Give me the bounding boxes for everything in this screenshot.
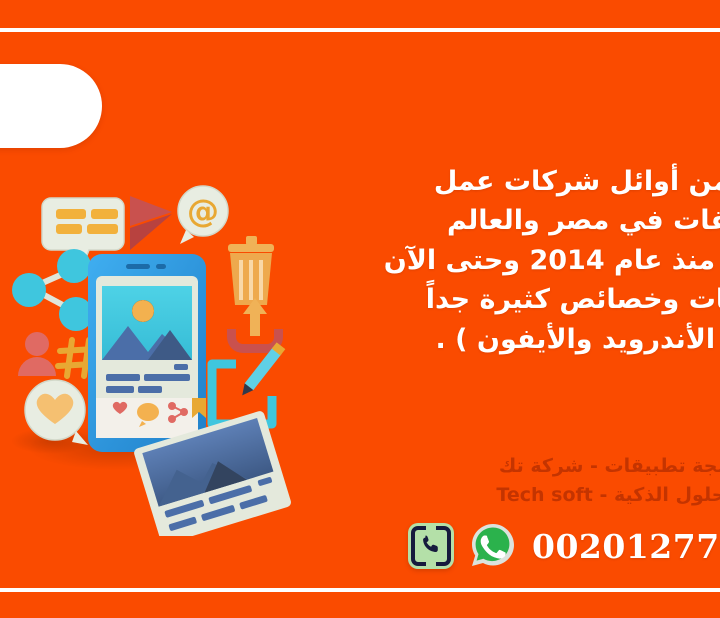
contact-row: 0020127777 bbox=[408, 522, 720, 570]
subheadline-line-1: ة برمجة تطبيقات - شركة تك bbox=[296, 452, 720, 481]
headline-line-2: لبيقات في مصر والعالم bbox=[242, 201, 720, 240]
banner-canvas: SOFT oft.net bbox=[0, 0, 720, 618]
email-at-bubble-icon: @ bbox=[178, 186, 228, 244]
logo-badge: SOFT oft.net bbox=[0, 64, 102, 148]
phone-number[interactable]: 0020127777 bbox=[532, 527, 720, 566]
whatsapp-icon[interactable] bbox=[468, 521, 518, 571]
headline-text: ن من أوائل شركات عمل لبيقات في مصر والعا… bbox=[242, 162, 720, 359]
headline-line-3: بي منذ عام 2014 وحتى الآن bbox=[242, 241, 720, 280]
headline-line-4: كانات وخصائص كثيرة جداً bbox=[242, 280, 720, 319]
subheadline-line-2: ت للحلول الذكية - Tech soft bbox=[296, 481, 720, 510]
send-arrow-icon bbox=[130, 196, 172, 250]
whatsapp-glyph bbox=[468, 521, 518, 571]
headline-line-1: ن من أوائل شركات عمل bbox=[242, 162, 720, 201]
share-network-icon bbox=[12, 249, 93, 331]
bottom-divider-rule bbox=[0, 588, 720, 592]
headline-line-5: لى الأندرويد والأيفون ) . bbox=[242, 320, 720, 359]
phone-handset-glyph bbox=[419, 534, 443, 558]
svg-text:@: @ bbox=[187, 192, 219, 230]
subheadline-text: ة برمجة تطبيقات - شركة تك ت للحلول الذكي… bbox=[296, 452, 720, 509]
user-avatar-icon bbox=[18, 332, 56, 376]
smartphone bbox=[88, 254, 206, 452]
phone-icon[interactable] bbox=[408, 523, 454, 569]
top-divider-rule bbox=[0, 28, 720, 32]
